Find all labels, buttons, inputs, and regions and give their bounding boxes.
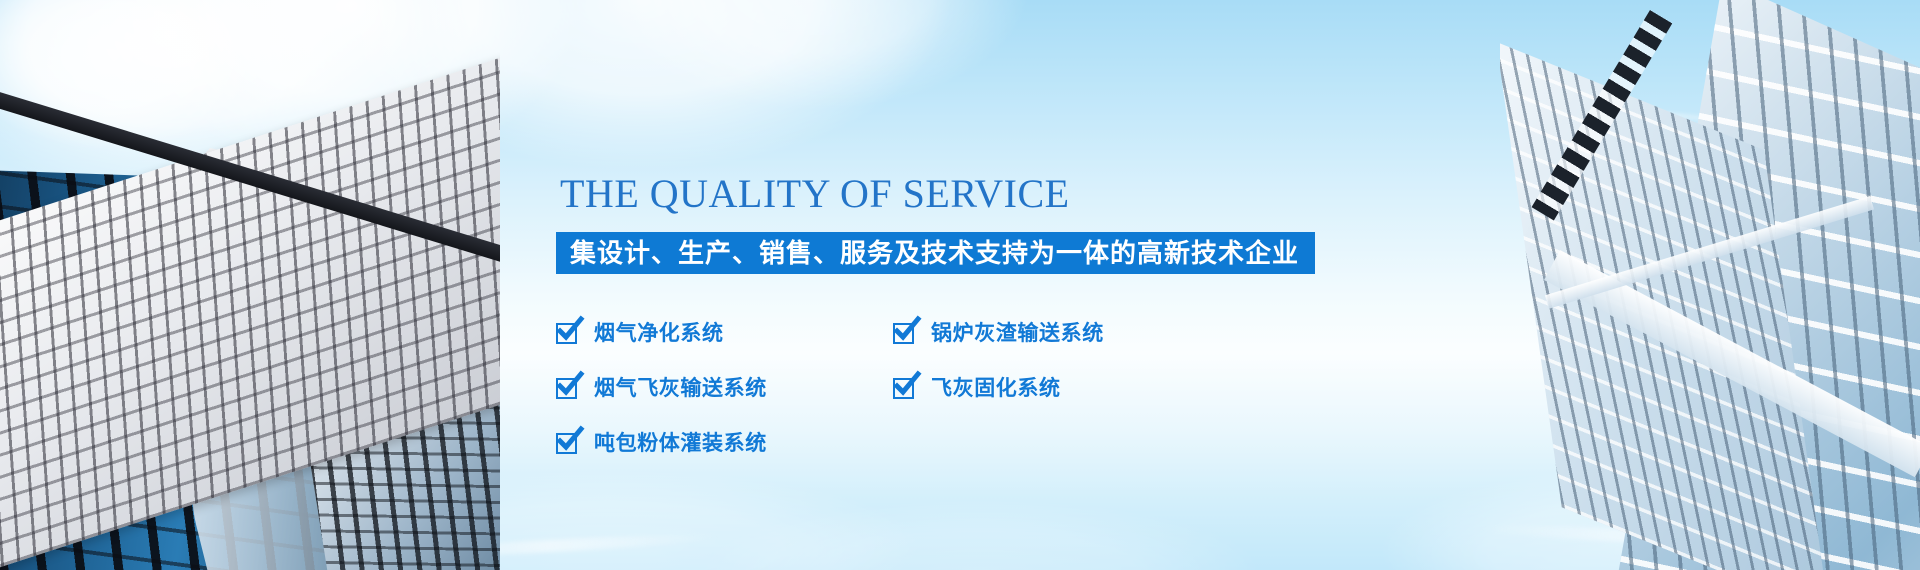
left-skyscraper-image: [0, 0, 500, 570]
cloud-shape: [600, 0, 1030, 110]
feature-item[interactable]: 吨包粉体灌装系统: [556, 432, 893, 456]
banner-headline: THE QUALITY OF SERVICE: [560, 170, 1456, 218]
checkbox-checked-icon: [556, 378, 577, 399]
feature-item[interactable]: 飞灰固化系统: [893, 377, 1233, 401]
feature-label: 锅炉灰渣输送系统: [931, 322, 1104, 346]
hero-banner: THE QUALITY OF SERVICE 集设计、生产、销售、服务及技术支持…: [0, 0, 1920, 570]
right-tower-image: [1500, 0, 1920, 570]
feature-label: 烟气净化系统: [594, 322, 724, 346]
checkbox-checked-icon: [893, 323, 914, 344]
feature-label: 飞灰固化系统: [931, 377, 1061, 401]
feature-item[interactable]: 烟气净化系统: [556, 322, 893, 346]
checkbox-checked-icon: [893, 378, 914, 399]
feature-item[interactable]: 锅炉灰渣输送系统: [893, 322, 1233, 346]
feature-label: 吨包粉体灌装系统: [594, 432, 767, 456]
banner-tagline-bar: 集设计、生产、销售、服务及技术支持为一体的高新技术企业: [556, 232, 1315, 274]
cloud-shape: [700, 500, 1260, 570]
banner-content: THE QUALITY OF SERVICE 集设计、生产、销售、服务及技术支持…: [556, 170, 1456, 471]
checkbox-checked-icon: [556, 323, 577, 344]
feature-label: 烟气飞灰输送系统: [594, 377, 767, 401]
feature-list: 烟气净化系统 锅炉灰渣输送系统: [556, 306, 1256, 471]
checkbox-checked-icon: [556, 433, 577, 454]
feature-row: 吨包粉体灌装系统: [556, 416, 1256, 471]
feature-item[interactable]: 烟气飞灰输送系统: [556, 377, 893, 401]
feature-row: 烟气飞灰输送系统 飞灰固化系统: [556, 361, 1256, 416]
feature-row: 烟气净化系统 锅炉灰渣输送系统: [556, 306, 1256, 361]
